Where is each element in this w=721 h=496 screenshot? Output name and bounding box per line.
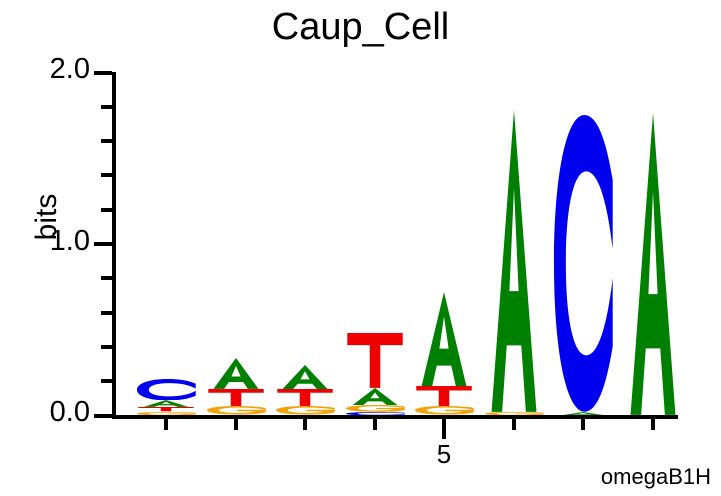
logo-letter-G xyxy=(342,405,408,412)
logo-letter-T xyxy=(272,389,338,406)
x-axis-minor-tick xyxy=(512,419,516,430)
logo-letter-C xyxy=(133,379,199,400)
logo-letter-G xyxy=(481,412,547,415)
logo-stack xyxy=(411,72,477,415)
page-title: Caup_Cell xyxy=(0,6,721,49)
logo-stack xyxy=(342,72,408,415)
y-axis-major-tick xyxy=(94,242,112,246)
logo-stack xyxy=(481,72,547,415)
y-axis-minor-tick xyxy=(101,208,112,212)
x-axis-major-tick xyxy=(442,419,446,439)
y-axis-minor-tick xyxy=(101,105,112,109)
logo-letter-G xyxy=(133,412,199,415)
x-tick-label: 5 xyxy=(424,439,464,470)
y-axis-minor-tick xyxy=(101,173,112,177)
logo-letter-A xyxy=(342,388,408,405)
logo-letter-A xyxy=(203,358,269,389)
logo-letter-A xyxy=(411,292,477,386)
y-axis-label: bits xyxy=(30,157,64,277)
sequence-logo-figure: Caup_Cell bits 0.01.02.05 omegaB1H xyxy=(0,0,721,496)
y-tick-label: 2.0 xyxy=(28,53,90,86)
logo-stack xyxy=(272,72,338,415)
x-axis-line xyxy=(112,415,678,419)
logo-letter-A xyxy=(550,412,616,415)
y-axis-line xyxy=(112,72,116,419)
logo-letter-T xyxy=(342,333,408,388)
x-axis-minor-tick xyxy=(581,419,585,430)
x-axis-minor-tick xyxy=(373,419,377,430)
footer-note: omegaB1H xyxy=(601,464,711,490)
logo-stack xyxy=(203,72,269,415)
y-axis-minor-tick xyxy=(101,345,112,349)
logo-letter-A xyxy=(133,400,199,407)
logo-letter-A xyxy=(481,110,547,412)
y-axis-minor-tick xyxy=(101,311,112,315)
logo-letter-A xyxy=(272,365,338,389)
y-axis-major-tick xyxy=(94,71,112,75)
y-axis-minor-tick xyxy=(101,139,112,143)
x-axis-minor-tick xyxy=(164,419,168,430)
logo-letter-C xyxy=(550,115,616,412)
logo-stack xyxy=(133,72,199,415)
logo-letter-G xyxy=(203,406,269,415)
x-axis-minor-tick xyxy=(651,419,655,430)
logo-letter-T xyxy=(203,389,269,406)
logo-letter-T xyxy=(411,386,477,407)
logo-letter-G xyxy=(272,406,338,415)
logo-letter-G xyxy=(411,406,477,415)
x-axis-minor-tick xyxy=(303,419,307,430)
y-axis-minor-tick xyxy=(101,379,112,383)
logo-stack xyxy=(620,72,686,415)
y-axis-minor-tick xyxy=(101,276,112,280)
logo-letter-A xyxy=(620,113,686,415)
y-tick-label: 1.0 xyxy=(28,225,90,258)
y-tick-label: 0.0 xyxy=(28,396,90,429)
y-axis-major-tick xyxy=(94,414,112,418)
x-axis-minor-tick xyxy=(234,419,238,430)
logo-stack xyxy=(550,72,616,415)
logo-letter-C xyxy=(342,412,408,415)
